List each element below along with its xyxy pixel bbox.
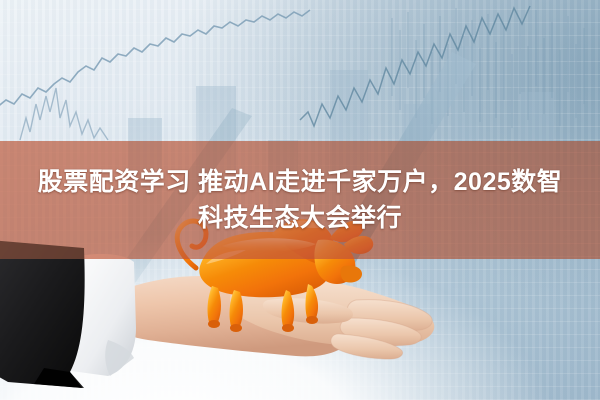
suit-sleeve	[0, 240, 85, 388]
orange-title-band-tint	[0, 141, 600, 259]
article-thumbnail: 股票配资学习 推动AI走进千家万户，2025数智 科技生态大会举行	[0, 0, 600, 400]
bull-muzzle	[340, 265, 362, 282]
